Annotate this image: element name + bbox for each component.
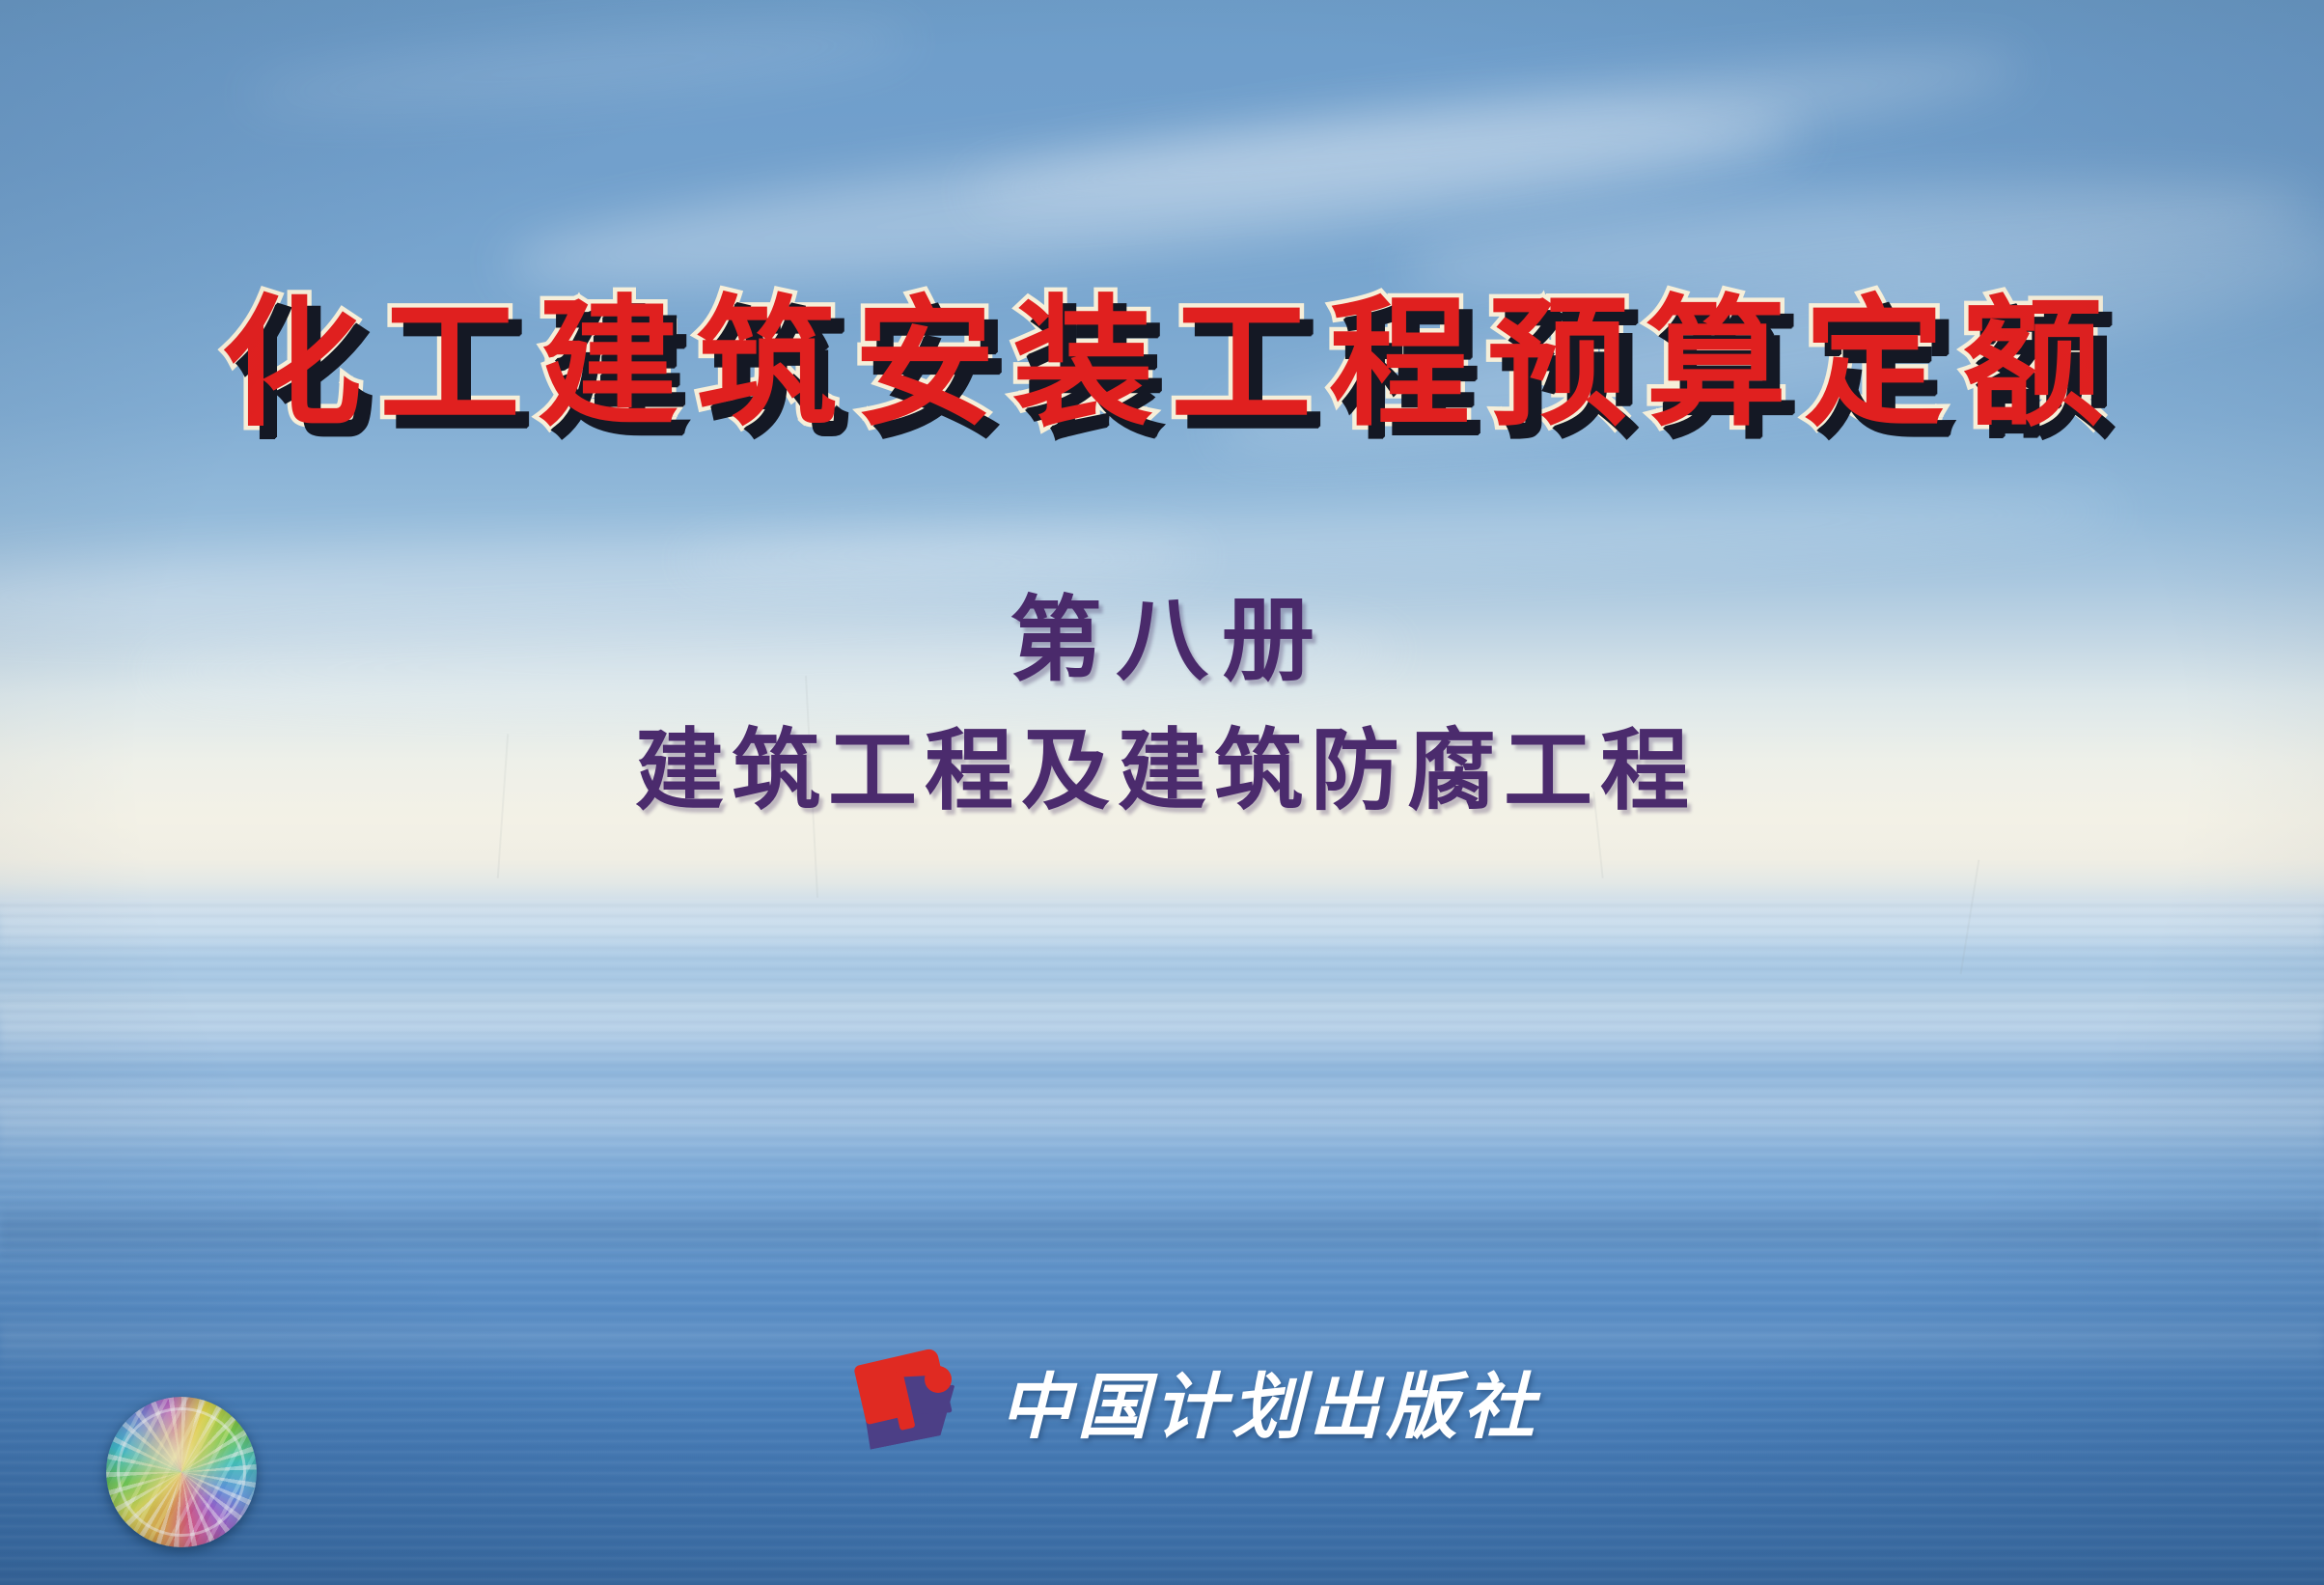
hologram-edge-shade <box>106 1397 257 1547</box>
book-cover: 化工建筑安装工程预算定额 第八册 建筑工程及建筑防腐工程 中国计划出版社 <box>0 0 2324 1585</box>
hologram-sticker-icon <box>106 1397 257 1547</box>
open-book-logo-icon <box>849 1343 975 1459</box>
main-title: 化工建筑安装工程预算定额 <box>0 286 2324 444</box>
book-dot-shape <box>925 1366 952 1393</box>
volume-number: 第八册 <box>0 565 2324 699</box>
publisher-block: 中国计划出版社 <box>849 1338 1486 1463</box>
sea-wave-texture <box>0 898 2324 1585</box>
publisher-name: 中国计划出版社 <box>1000 1349 1540 1453</box>
subtitle: 建筑工程及建筑防腐工程 <box>0 699 2324 827</box>
